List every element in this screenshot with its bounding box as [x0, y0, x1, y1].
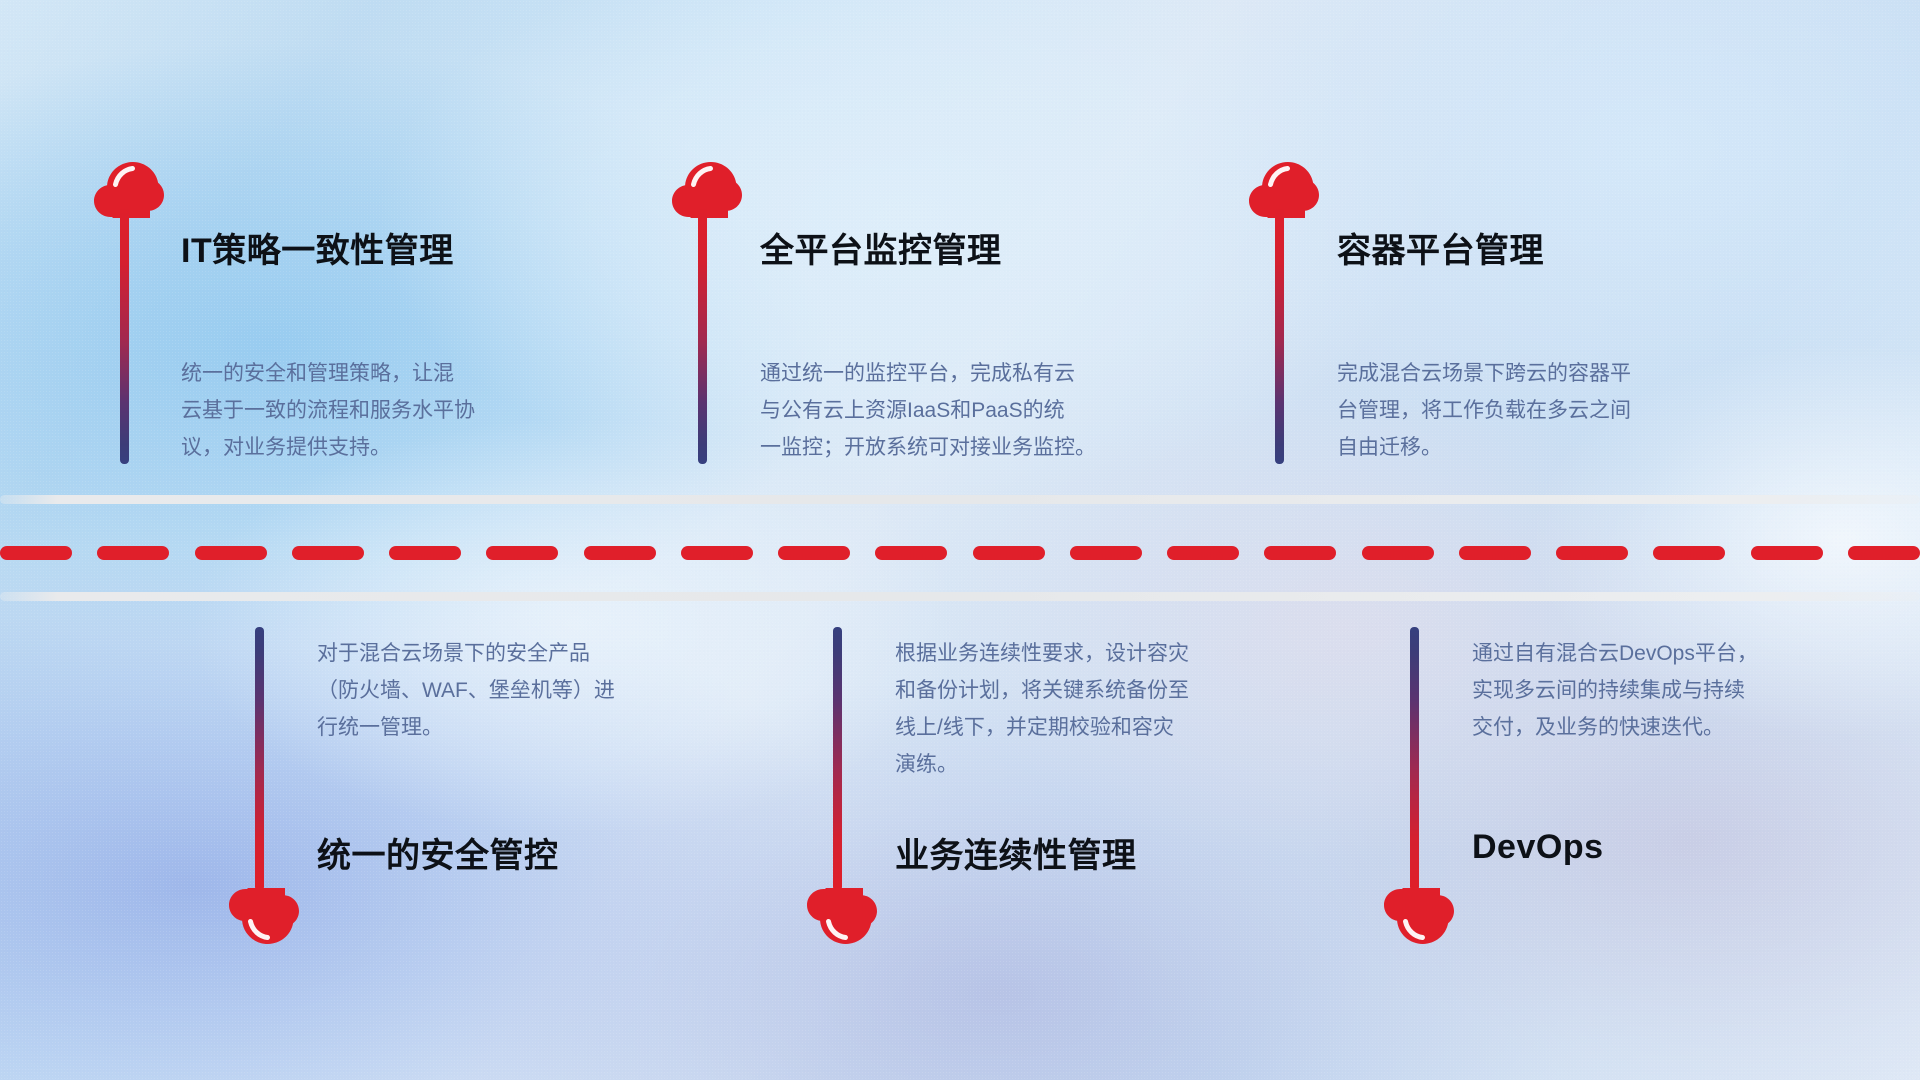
card-title: IT策略一致性管理 — [181, 223, 454, 272]
card-description: 通过自有混合云DevOps平台， 实现多云间的持续集成与持续 交付，及业务的快速… — [1472, 635, 1902, 746]
stem-connector — [833, 627, 842, 891]
card-description: 对于混合云场景下的安全产品 （防火墙、WAF、堡垒机等）进 行统一管理。 — [317, 635, 747, 746]
cloud-icon — [229, 888, 299, 944]
divider-dash — [1848, 546, 1920, 560]
divider-dash — [0, 546, 72, 560]
divider-dash — [292, 546, 364, 560]
dashed-divider — [0, 546, 1920, 560]
cloud-icon — [1249, 162, 1319, 218]
card-title: 业务连续性管理 — [895, 828, 1137, 877]
divider-dash — [97, 546, 169, 560]
card-description: 通过统一的监控平台，完成私有云 与公有云上资源IaaS和PaaS的统 一监控；开… — [760, 355, 1190, 466]
cloud-icon — [807, 888, 877, 944]
divider-dash — [875, 546, 947, 560]
card-title: 容器平台管理 — [1337, 223, 1544, 272]
divider-dash — [778, 546, 850, 560]
card-title: 统一的安全管控 — [317, 828, 559, 877]
divider-dash — [389, 546, 461, 560]
cloud-icon — [672, 162, 742, 218]
divider-dash — [1459, 546, 1531, 560]
divider-dash — [486, 546, 558, 560]
stem-connector — [1410, 627, 1419, 891]
divider-dash — [584, 546, 656, 560]
cloud-icon — [94, 162, 164, 218]
divider-dash — [1264, 546, 1336, 560]
divider-dash — [681, 546, 753, 560]
divider-dash — [1362, 546, 1434, 560]
infographic-canvas: IT策略一致性管理 统一的安全和管理策略，让混 云基于一致的流程和服务水平协 议… — [0, 0, 1920, 1080]
stem-connector — [698, 206, 707, 464]
divider-dash — [973, 546, 1045, 560]
divider-dash — [1556, 546, 1628, 560]
top-rule — [0, 495, 1920, 504]
stem-connector — [120, 206, 129, 464]
cloud-icon — [1384, 888, 1454, 944]
card-title: 全平台监控管理 — [760, 223, 1002, 272]
card-title: DevOps — [1472, 828, 1604, 867]
divider-dash — [1167, 546, 1239, 560]
divider-dash — [1751, 546, 1823, 560]
divider-dash — [195, 546, 267, 560]
stem-connector — [255, 627, 264, 891]
card-description: 根据业务连续性要求，设计容灾 和备份计划，将关键系统备份至 线上/线下，并定期校… — [895, 635, 1325, 783]
stem-connector — [1275, 206, 1284, 464]
card-description: 完成混合云场景下跨云的容器平 台管理，将工作负载在多云之间 自由迁移。 — [1337, 355, 1767, 466]
divider-dash — [1653, 546, 1725, 560]
bottom-rule — [0, 592, 1920, 601]
divider-dash — [1070, 546, 1142, 560]
card-description: 统一的安全和管理策略，让混 云基于一致的流程和服务水平协 议，对业务提供支持。 — [181, 355, 611, 466]
